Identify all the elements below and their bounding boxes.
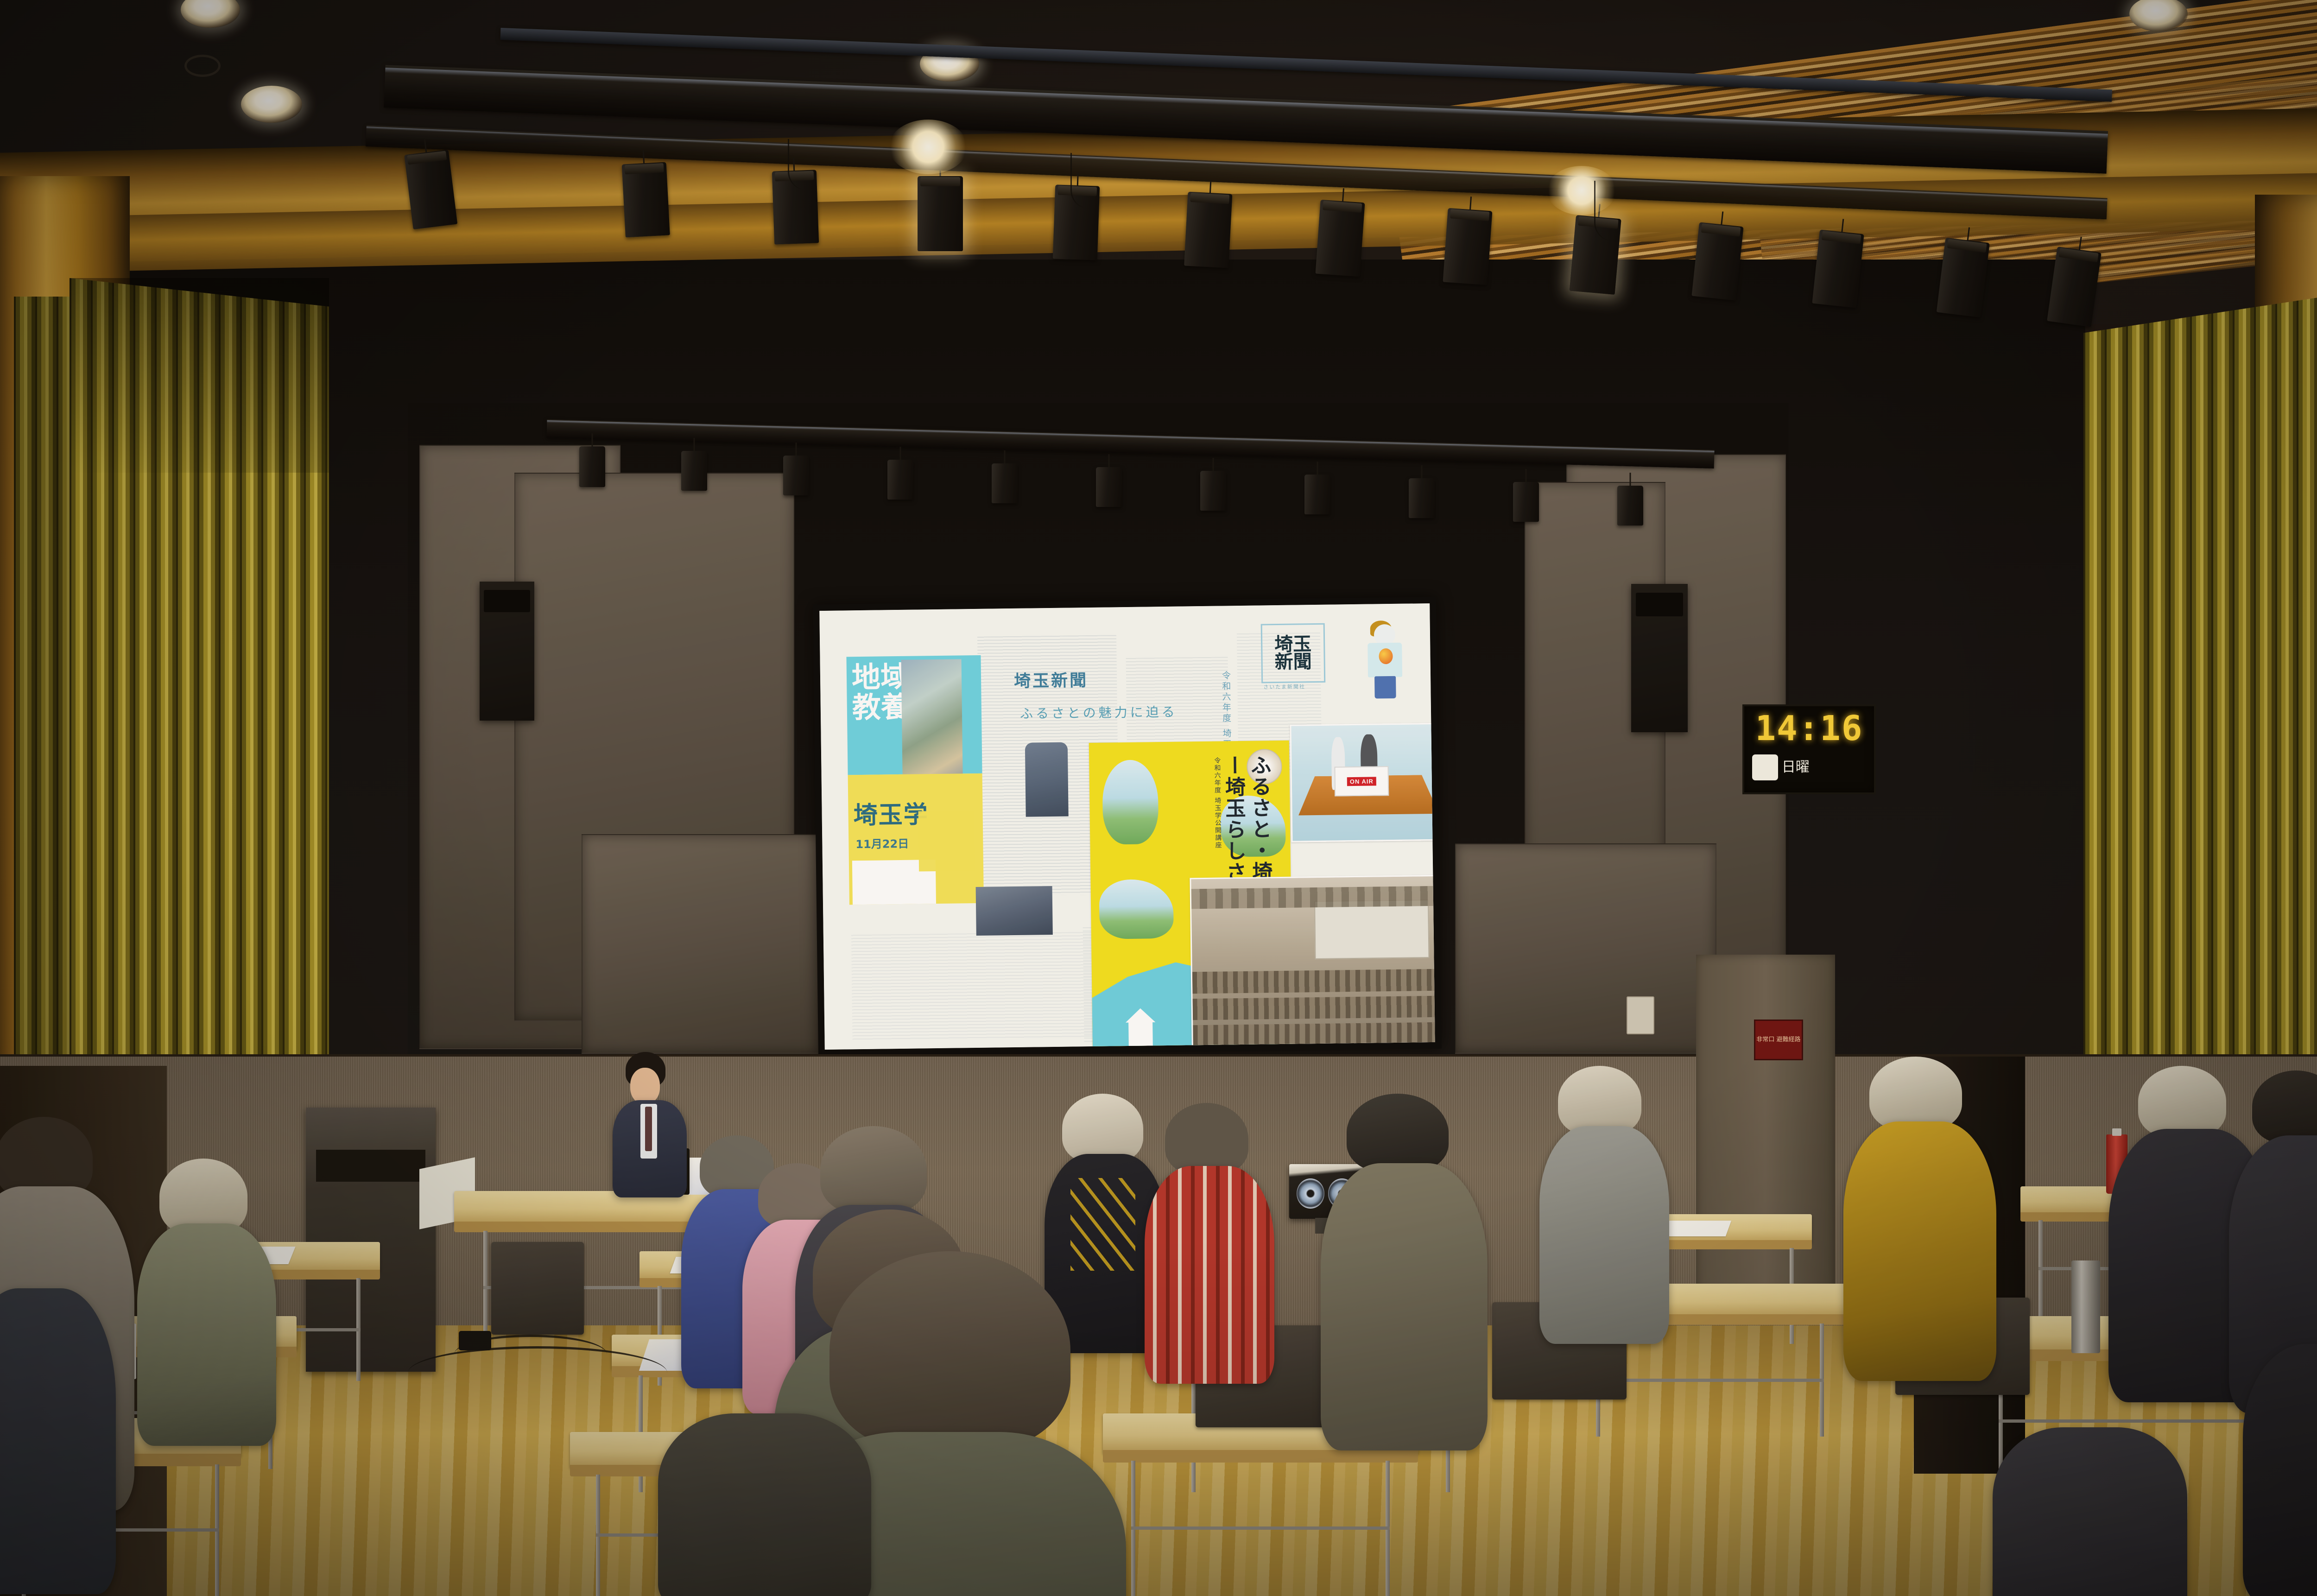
jacket-embroidery bbox=[1070, 1178, 1135, 1271]
stage-light-icon bbox=[1443, 195, 1494, 285]
person-hair bbox=[1347, 1094, 1449, 1172]
bottle-cap bbox=[2112, 1128, 2121, 1135]
slide-ad-inset bbox=[918, 811, 975, 871]
stage-light-inner-icon bbox=[1304, 462, 1330, 514]
downlight-ring-icon bbox=[184, 55, 221, 77]
on-air-label: ON AIR bbox=[1347, 777, 1376, 786]
person-torso bbox=[1321, 1163, 1488, 1450]
wall-speaker-left bbox=[480, 582, 534, 721]
mascot-legs bbox=[1374, 676, 1396, 699]
slide-news-audience bbox=[976, 886, 1053, 936]
newspaper-column bbox=[851, 931, 1112, 1041]
emergency-exit-sign: 非常口 避難経路 bbox=[1754, 1020, 1803, 1060]
person-torso bbox=[0, 1288, 116, 1594]
poster-landscape-blob bbox=[1099, 879, 1174, 939]
person-torso bbox=[1993, 1427, 2187, 1596]
curtain-shadow-left bbox=[70, 278, 329, 473]
person-hair bbox=[1869, 1057, 1962, 1131]
logo-line-2: 新聞 bbox=[1274, 653, 1311, 671]
person-hair bbox=[1165, 1103, 1248, 1175]
clock-day-square bbox=[1752, 754, 1778, 780]
speaker-grill bbox=[484, 590, 530, 612]
person-hair bbox=[1558, 1066, 1641, 1135]
stage-light-icon bbox=[1691, 209, 1745, 300]
presenter-tie bbox=[645, 1107, 652, 1151]
presentation-slide: 埼玉新聞 ふるさとの魅力に迫る 埼玉新聞 令和六年度 埼玉学公開講座 地域教養 … bbox=[819, 603, 1435, 1050]
stage-light-inner-icon bbox=[783, 443, 809, 495]
power-cable bbox=[788, 139, 822, 190]
stage-light-inner-icon bbox=[887, 447, 913, 500]
av-cabinet-vent bbox=[316, 1150, 425, 1181]
stage-light-icon bbox=[621, 149, 670, 238]
hall-seat-row bbox=[1193, 995, 1435, 1020]
stage-light-glow bbox=[889, 120, 968, 174]
floor-power-strip bbox=[459, 1331, 491, 1350]
logo-line-1: 埼玉 bbox=[1274, 635, 1311, 653]
person-hair bbox=[1062, 1094, 1143, 1163]
stage-light-inner-icon bbox=[1200, 458, 1226, 511]
acoustic-panel bbox=[1455, 843, 1716, 1054]
hall-projection-screen bbox=[1314, 899, 1429, 959]
emergency-exit-sign-label: 非常口 避難経路 bbox=[1756, 1037, 1800, 1043]
downlight-icon bbox=[241, 86, 302, 123]
lecture-hall-photo: 埼玉新聞 ふるさとの魅力に迫る 埼玉新聞 令和六年度 埼玉学公開講座 地域教養 … bbox=[0, 0, 2317, 1596]
on-air-sign: ON AIR bbox=[1335, 766, 1389, 796]
acoustic-panel bbox=[582, 834, 843, 1054]
hall-seat-row bbox=[1193, 1022, 1435, 1047]
mascot-fruit-icon bbox=[1379, 648, 1393, 664]
slide-newspaper-headline: ふるさとの魅力に迫る bbox=[1020, 702, 1177, 722]
projector-lens-left bbox=[1297, 1178, 1324, 1209]
clock-calendar: 日曜 bbox=[1752, 748, 1866, 786]
stage-light-inner-icon bbox=[1096, 454, 1122, 507]
slide-newspaper-logo: 埼玉 新聞 bbox=[1261, 623, 1326, 684]
clock-weekday: 日曜 bbox=[1782, 760, 1810, 774]
hall-ceiling-beams bbox=[1191, 886, 1435, 909]
person-hair bbox=[820, 1126, 927, 1214]
slide-ad-yellow-label: 埼玉学 bbox=[853, 795, 929, 830]
clock-time: 14:16 bbox=[1752, 711, 1866, 746]
slide-ad-photo bbox=[901, 659, 963, 792]
projection-screen: 埼玉新聞 ふるさとの魅力に迫る 埼玉新聞 令和六年度 埼玉学公開講座 地域教養 … bbox=[819, 603, 1435, 1050]
stage-light-inner-icon bbox=[1513, 469, 1539, 522]
person-torso bbox=[1539, 1126, 1669, 1344]
slide-photo-lecture-hall bbox=[1190, 875, 1435, 1047]
stage-light-icon bbox=[1316, 187, 1366, 277]
slide-news-portrait bbox=[1025, 742, 1069, 817]
person-torso bbox=[658, 1413, 871, 1596]
stage-light-icon bbox=[1184, 179, 1233, 268]
power-cable bbox=[1070, 153, 1109, 209]
hall-seat-row bbox=[1192, 969, 1435, 994]
stage-light-inner-icon bbox=[1617, 473, 1643, 526]
person-hair bbox=[829, 1251, 1070, 1450]
wall-speaker-right bbox=[1631, 584, 1688, 732]
speaker-grill bbox=[1636, 593, 1683, 616]
person-torso bbox=[1145, 1166, 1274, 1384]
person-torso bbox=[1843, 1121, 1996, 1381]
poster-vertical-caption: 令和六年度 埼玉学公開講座 bbox=[1212, 757, 1222, 849]
person-torso bbox=[137, 1223, 276, 1446]
power-cable bbox=[1594, 181, 1637, 241]
stage-light-inner-icon bbox=[579, 433, 605, 487]
wall-switch-plate bbox=[1627, 996, 1654, 1034]
digital-wall-clock: 14:16 日曜 bbox=[1742, 704, 1876, 794]
projection-screen-frame: 埼玉新聞 ふるさとの魅力に迫る 埼玉新聞 令和六年度 埼玉学公開講座 地域教養 … bbox=[813, 597, 1442, 1056]
slide-logo-caption: さいたま新聞社 bbox=[1263, 683, 1305, 690]
slide-ad-date: 11月22日 bbox=[855, 835, 909, 851]
poster-time-note: （開場13:00） bbox=[1274, 1046, 1294, 1050]
poster-landscape-blob bbox=[1102, 760, 1158, 844]
poster-house-icon bbox=[1128, 1020, 1153, 1050]
slide-photo-radio-studio: ON AIR bbox=[1290, 723, 1435, 842]
stage-light-inner-icon bbox=[681, 438, 707, 491]
stage-light-inner-icon bbox=[992, 450, 1018, 503]
slide-newspaper-name: 埼玉新聞 bbox=[1014, 667, 1089, 692]
stage-light-inner-icon bbox=[1409, 465, 1435, 518]
presenter-head bbox=[630, 1068, 660, 1104]
thermos-flask bbox=[2071, 1260, 2100, 1353]
person-hair bbox=[2138, 1066, 2226, 1138]
stage-light-icon bbox=[918, 163, 963, 251]
chair-back bbox=[491, 1242, 584, 1335]
stage-light-icon bbox=[1812, 216, 1865, 308]
